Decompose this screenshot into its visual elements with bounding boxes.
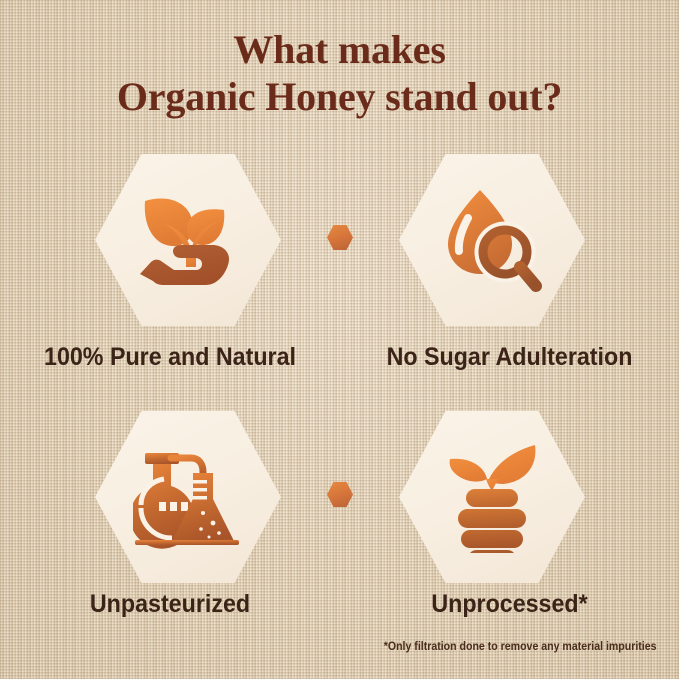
- feature-label-no-sugar-adulteration: No Sugar Adulteration: [352, 343, 667, 371]
- footnote-text: *Only filtration done to remove any mate…: [384, 641, 657, 653]
- lab-flasks-icon: [133, 445, 243, 549]
- beehive-leaves-icon: [440, 441, 544, 553]
- honey-drop-magnifier-icon: [440, 187, 544, 293]
- page-title-line-2: Organic Honey stand out?: [0, 73, 679, 120]
- page-title-line-1: What makes: [233, 27, 445, 72]
- hexagon-divider-top: [327, 225, 353, 250]
- page-title: What makes Organic Honey stand out?: [0, 26, 679, 120]
- feature-label-pure-natural: 100% Pure and Natural: [12, 343, 328, 371]
- feature-card-unprocessed[interactable]: [399, 411, 585, 583]
- feature-card-unpasteurized[interactable]: [95, 411, 281, 583]
- feature-label-unpasteurized: Unpasteurized: [12, 590, 328, 618]
- hand-holding-sprout-icon: [134, 188, 242, 292]
- honey-benefits-infographic: What makes Organic Honey stand out?: [0, 0, 679, 679]
- feature-card-no-sugar-adulteration[interactable]: [399, 154, 585, 326]
- hexagon-divider-bottom: [327, 482, 353, 507]
- feature-label-unprocessed: Unprocessed*: [352, 590, 667, 618]
- feature-card-pure-natural[interactable]: [95, 154, 281, 326]
